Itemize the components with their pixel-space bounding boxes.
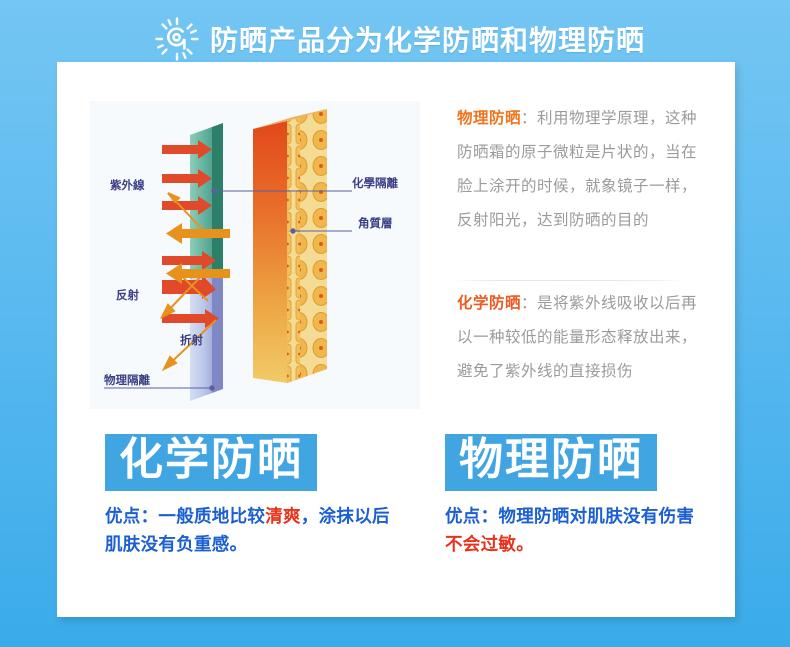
label-physical-barrier: 物理隔離 [104, 373, 150, 387]
label-reflection: 反射 [116, 288, 139, 302]
page-title: 防晒产品分为化学防晒和物理防晒 [210, 17, 645, 61]
description-column: 物理防晒：利用物理学原理，这种防晒霜的原子微粒是片状的，当在脸上涂开的时候，就象… [457, 102, 702, 238]
merit-physical-prefix: 优点：物理防晒对肌肤没有伤害 [445, 506, 694, 526]
content-card: 化學隔離 角質層 物理隔離 紫外線 反射 折射 物理防晒：利用物理学原理，这种防… [57, 62, 735, 617]
merit-chemical-prefix: 优点：一般质地比较 [105, 506, 265, 526]
column-chemical-sunscreen: 化学防晒 优点：一般质地比较清爽，涂抹以后肌肤没有负重感。 [105, 434, 405, 558]
tag-physical-sunscreen: 物理防晒 [445, 434, 657, 491]
label-chemical-barrier: 化學隔離 [352, 176, 398, 190]
sunscreen-mechanism-diagram: 化學隔離 角質層 物理隔離 紫外線 反射 折射 [90, 101, 420, 409]
sun-icon [155, 17, 199, 61]
merit-physical-highlight: 不会过敏。 [445, 534, 534, 554]
paragraph-physical-body: ：利用物理学原理，这种防晒霜的原子微粒是片状的，当在脸上涂开的时候，就象镜子一样… [457, 110, 697, 229]
paragraph-chemical-keyword: 化学防晒 [457, 295, 521, 312]
label-refraction: 折射 [180, 333, 203, 347]
merit-chemical-highlight: 清爽 [265, 506, 301, 526]
column-physical-sunscreen: 物理防晒 优点：物理防晒对肌肤没有伤害不会过敏。 [445, 434, 745, 558]
paragraph-physical: 物理防晒：利用物理学原理，这种防晒霜的原子微粒是片状的，当在脸上涂开的时候，就象… [457, 102, 702, 238]
skin-block [253, 101, 335, 401]
tag-chemical-sunscreen: 化学防晒 [105, 434, 317, 491]
label-stratum-corneum: 角質層 [358, 216, 393, 230]
merit-physical: 优点：物理防晒对肌肤没有伤害不会过敏。 [445, 502, 745, 558]
label-uv: 紫外線 [110, 178, 145, 192]
paragraph-divider [455, 280, 683, 281]
page-header: 防晒产品分为化学防晒和物理防晒 [0, 0, 790, 62]
paragraph-physical-keyword: 物理防晒 [457, 110, 521, 127]
merit-chemical: 优点：一般质地比较清爽，涂抹以后肌肤没有负重感。 [105, 502, 405, 558]
paragraph-chemical: 化学防晒：是将紫外线吸收以后再以一种较低的能量形态释放出来，避免了紫外线的直接损… [457, 287, 705, 389]
